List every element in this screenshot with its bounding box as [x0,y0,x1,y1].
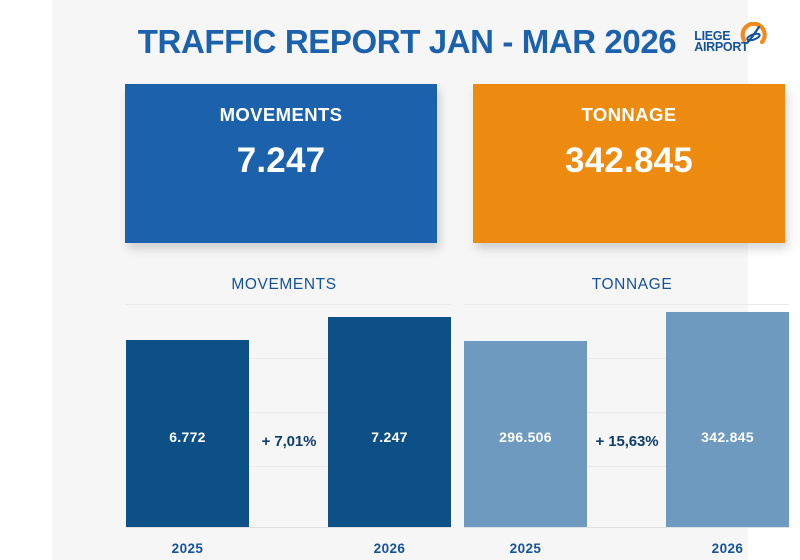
bar-tonnage-2026: 342.845 [666,312,789,527]
bar-movements-2026: 7.247 [328,317,451,527]
x-tick-2025: 2025 [126,541,249,556]
x-tick-2025: 2025 [464,541,587,556]
liege-airport-swoosh-icon [738,22,768,52]
bar-movements-2025: 6.772 [126,340,249,527]
bar-value-label: 342.845 [666,429,789,445]
bar-tonnage-2025: 296.506 [464,341,587,527]
liege-airport-logo: LIEGE AIRPORT [694,22,766,62]
kpi-label-movements: MOVEMENTS [125,104,437,126]
kpi-card-movements: MOVEMENTS 7.247 [125,84,437,243]
report-header: TRAFFIC REPORT JAN - MAR 2026 LIEGE AIRP… [104,14,800,70]
x-tick-2026: 2026 [328,541,451,556]
report-panel: TRAFFIC REPORT JAN - MAR 2026 LIEGE AIRP… [52,0,748,560]
chart-title-movements: MOVEMENTS [128,276,440,294]
x-tick-2026: 2026 [666,541,789,556]
report-frame: TRAFFIC REPORT JAN - MAR 2026 LIEGE AIRP… [0,0,800,560]
x-axis-line [126,527,451,528]
kpi-card-tonnage: TONNAGE 342.845 [473,84,785,243]
delta-label-tonnage: + 15,63% [582,433,672,450]
bar-chart-movements: 6.772 7.247 + 7,01% 2025 2026 [126,304,451,528]
kpi-value-movements: 7.247 [125,141,437,181]
delta-label-movements: + 7,01% [244,433,334,450]
bar-chart-tonnage: 296.506 342.845 + 15,63% 2025 2026 [464,304,789,528]
bar-value-label: 296.506 [464,429,587,445]
gridline [464,304,789,305]
bar-value-label: 7.247 [328,429,451,445]
page-title: TRAFFIC REPORT JAN - MAR 2026 [138,23,676,61]
x-axis-line [464,527,789,528]
chart-title-tonnage: TONNAGE [476,276,788,294]
kpi-label-tonnage: TONNAGE [473,104,785,126]
gridline [126,304,451,305]
bar-value-label: 6.772 [126,429,249,445]
kpi-value-tonnage: 342.845 [473,141,785,181]
